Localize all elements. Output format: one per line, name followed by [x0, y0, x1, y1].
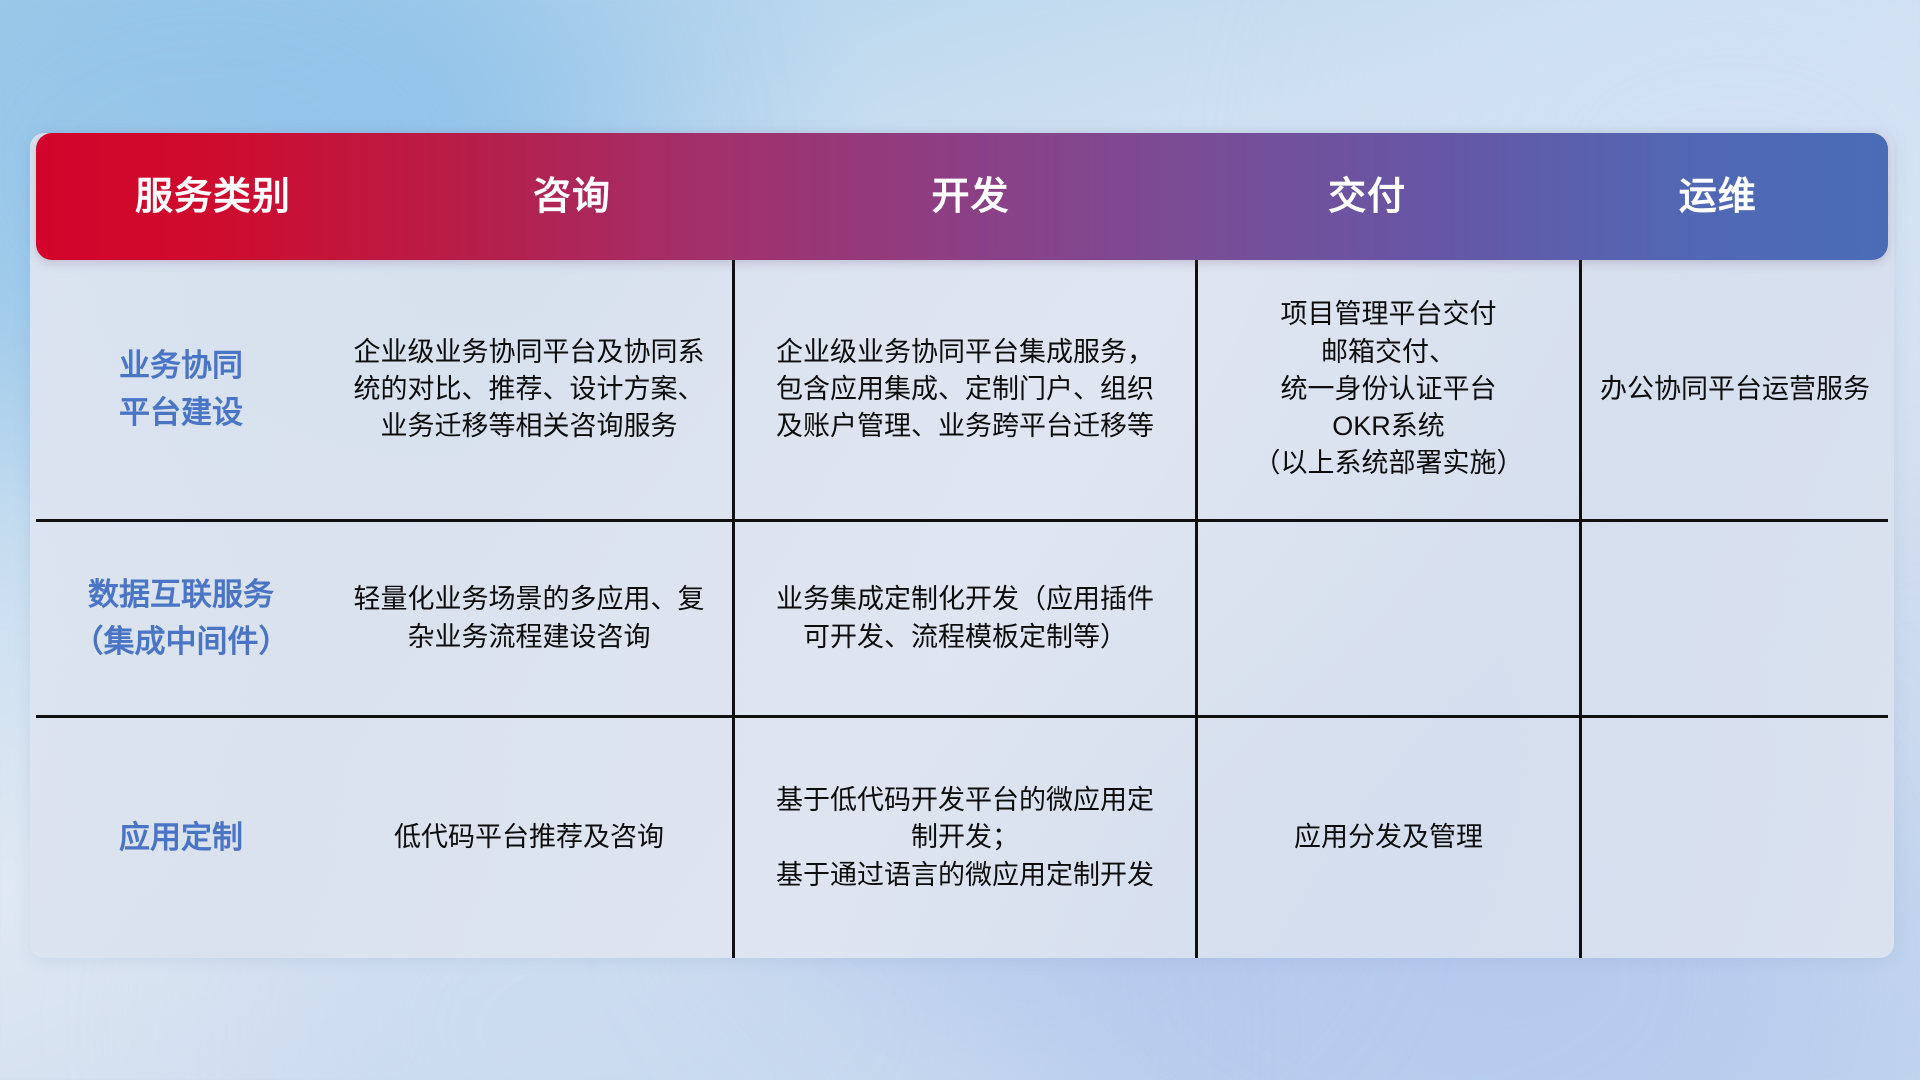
cell-consulting-0: 企业级业务协同平台及协同系 统的对比、推荐、设计方案、 业务迁移等相关咨询服务	[326, 260, 732, 519]
cell-delivery-0: 项目管理平台交付 邮箱交付、 统一身份认证平台 OKR系统 （以上系统部署实施）	[1195, 260, 1579, 519]
table-row: 业务协同 平台建设 企业级业务协同平台及协同系 统的对比、推荐、设计方案、 业务…	[36, 260, 1888, 519]
cell-development-0: 企业级业务协同平台集成服务， 包含应用集成、定制门户、组织 及账户管理、业务跨平…	[732, 260, 1195, 519]
column-header-consulting: 咨询	[390, 178, 754, 216]
service-matrix-table: 服务类别 咨询 开发 交付 运维 业务协同 平台建设 企业级业务协同平台及协同系…	[30, 133, 1894, 958]
cell-operations-0: 办公协同平台运营服务	[1579, 260, 1888, 519]
cell-consulting-1: 轻量化业务场景的多应用、复 杂业务流程建设咨询	[326, 522, 732, 715]
table-header-row: 服务类别 咨询 开发 交付 运维	[36, 133, 1888, 260]
cell-category-1: 数据互联服务 （集成中间件）	[36, 522, 326, 715]
table-row: 应用定制 低代码平台推荐及咨询 基于低代码开发平台的微应用定 制开发； 基于通过…	[36, 715, 1888, 958]
column-header-development: 开发	[754, 178, 1187, 216]
column-header-category: 服务类别	[36, 178, 390, 216]
cell-development-1: 业务集成定制化开发（应用插件 可开发、流程模板定制等）	[732, 522, 1195, 715]
cell-delivery-2: 应用分发及管理	[1195, 718, 1579, 958]
table-row: 数据互联服务 （集成中间件） 轻量化业务场景的多应用、复 杂业务流程建设咨询 业…	[36, 519, 1888, 715]
column-header-operations: 运维	[1547, 178, 1888, 216]
cell-development-2: 基于低代码开发平台的微应用定 制开发； 基于通过语言的微应用定制开发	[732, 718, 1195, 958]
cell-operations-1	[1579, 522, 1888, 715]
cell-consulting-2: 低代码平台推荐及咨询	[326, 718, 732, 958]
table-grid: 业务协同 平台建设 企业级业务协同平台及协同系 统的对比、推荐、设计方案、 业务…	[36, 260, 1888, 958]
cell-operations-2	[1579, 718, 1888, 958]
cell-category-2: 应用定制	[36, 718, 326, 958]
column-header-delivery: 交付	[1187, 178, 1548, 216]
cell-category-0: 业务协同 平台建设	[36, 260, 326, 519]
cell-delivery-1	[1195, 522, 1579, 715]
slide-canvas: 服务类别 咨询 开发 交付 运维 业务协同 平台建设 企业级业务协同平台及协同系…	[0, 0, 1920, 1080]
